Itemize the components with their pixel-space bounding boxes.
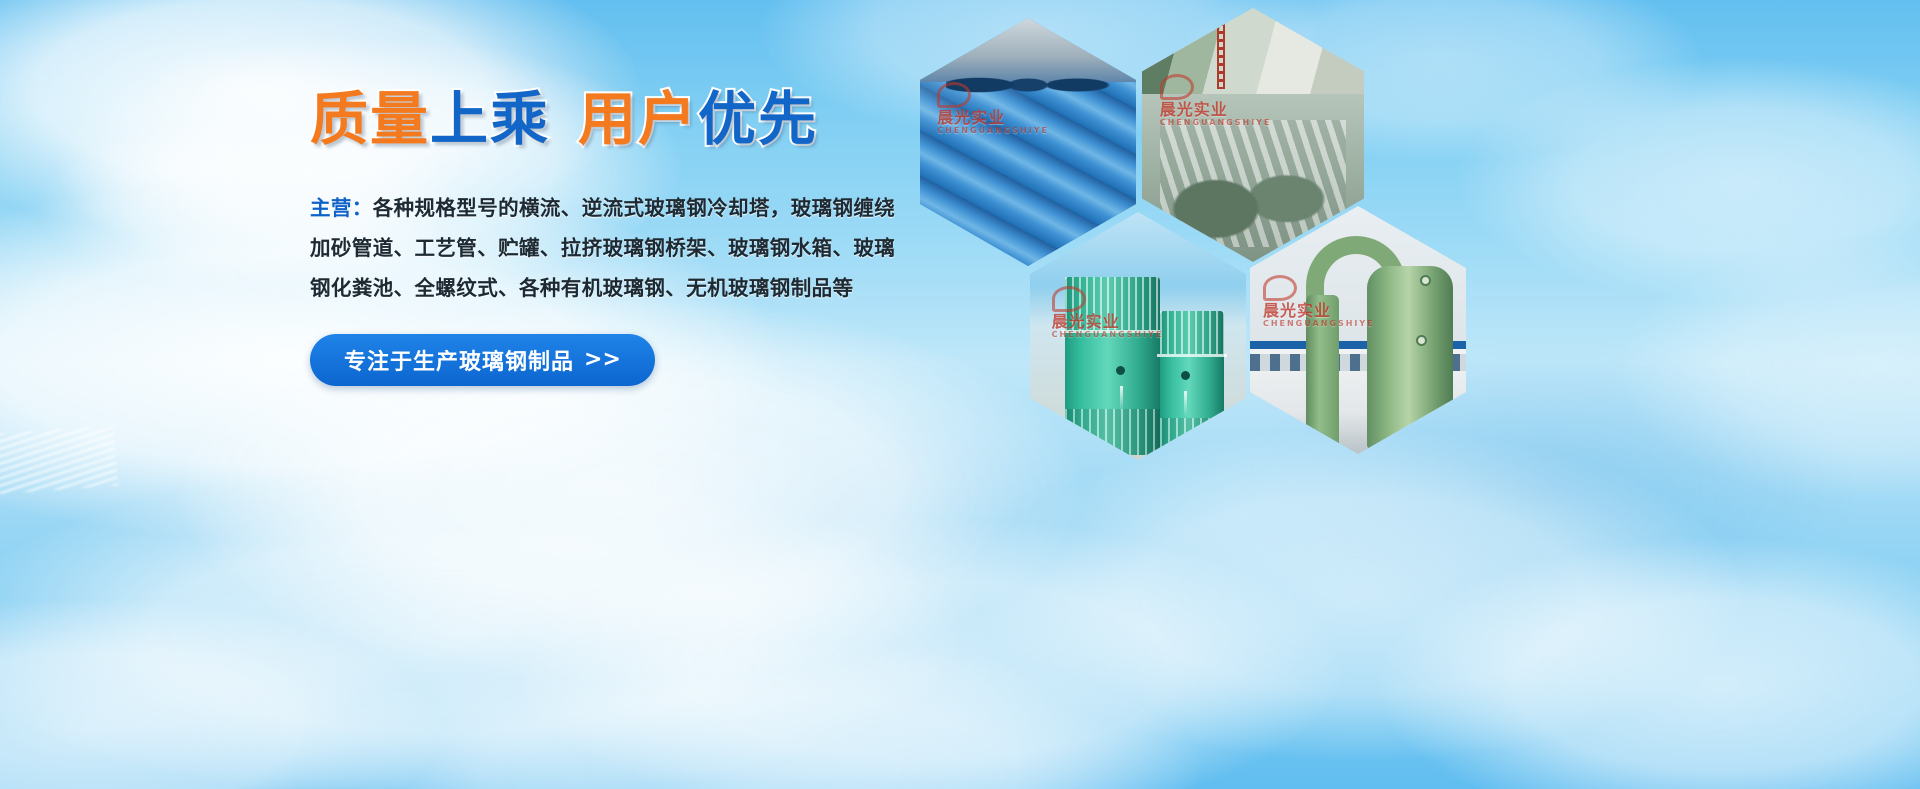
cooling-tower-small: [1160, 311, 1225, 455]
vessel-manhole: [1416, 335, 1427, 346]
photo-blue-pipes-image: [920, 18, 1136, 266]
cloud: [1380, 540, 1920, 789]
cloud-wisp: [0, 426, 118, 495]
scrubber-vessel: [1367, 266, 1453, 450]
scrubber-downpipe: [1306, 295, 1338, 449]
cloud: [0, 600, 440, 789]
tower-water-drip: [1184, 391, 1187, 417]
banner-copy: 质量上乘用户优先 主营：各种规格型号的横流、逆流式玻璃钢冷却塔，玻璃钢缠绕加砂管…: [310, 88, 930, 386]
headline-segment-quality: 质量: [310, 88, 430, 152]
banner-headline: 质量上乘用户优先: [310, 88, 930, 152]
cloud: [520, 520, 1340, 789]
chevron-right-double-icon: >>: [584, 347, 621, 372]
subtitle-lead: 主营：: [310, 196, 373, 220]
tower-grill: [1160, 418, 1225, 455]
tower-slats: [1065, 277, 1160, 331]
tower-rail: [1061, 330, 1164, 333]
promo-banner: 质量上乘用户优先 主营：各种规格型号的横流、逆流式玻璃钢冷却塔，玻璃钢缠绕加砂管…: [0, 0, 1920, 789]
tower-grill: [1065, 409, 1160, 455]
cloud: [1620, 240, 1920, 500]
cloud: [1460, 60, 1920, 300]
headline-segment-superior: 上乘: [430, 88, 550, 152]
sky-shade: [640, 400, 1060, 600]
hex-photo-cooling-tower[interactable]: 晨光实业 CHENGUANGSHIYE: [1030, 212, 1246, 460]
cloud: [0, 470, 960, 789]
cooling-tower-large: [1065, 277, 1160, 456]
cloud: [980, 430, 1740, 760]
cta-button[interactable]: 专注于生产玻璃钢制品 >>: [310, 334, 655, 386]
tower-water-drip: [1120, 386, 1123, 412]
cloud: [300, 640, 1200, 789]
ladder-detail: [1217, 23, 1225, 89]
tower-nozzle: [1181, 371, 1190, 380]
product-hex-collage: 晨光实业 CHENGUANGSHIYE 晨光实业 CHENGUANGSHIYE: [920, 8, 1440, 428]
photo-cooling-tower-image: [1030, 212, 1246, 460]
cta-label: 专注于生产玻璃钢制品: [344, 344, 574, 376]
banner-subtitle: 主营：各种规格型号的横流、逆流式玻璃钢冷却塔，玻璃钢缠绕加砂管道、工艺管、贮罐、…: [310, 188, 910, 308]
tower-slats: [1160, 311, 1225, 354]
hex-photo-blue-pipes[interactable]: 晨光实业 CHENGUANGSHIYE: [920, 18, 1136, 266]
subtitle-line-3: 粪池、全螺纹式、各种有机玻璃钢、无机玻璃钢制品等: [352, 276, 854, 300]
headline-segment-customer: 用户: [578, 88, 698, 152]
headline-segment-first: 优先: [698, 88, 818, 152]
tower-rail: [1157, 354, 1227, 357]
